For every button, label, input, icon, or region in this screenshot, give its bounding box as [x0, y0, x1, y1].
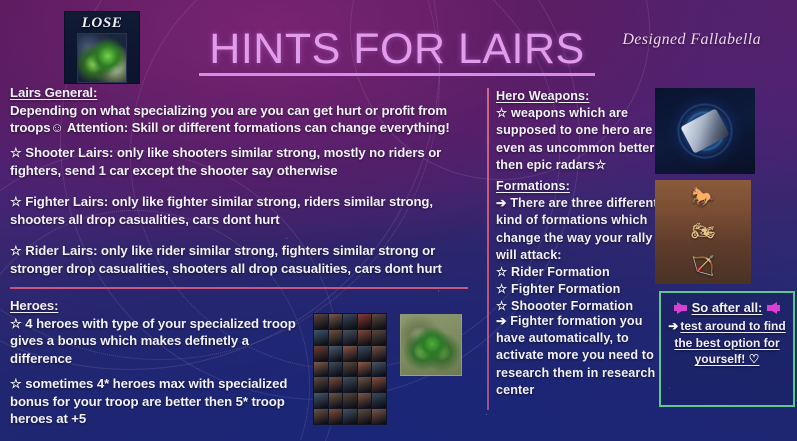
weapon-glyph [680, 108, 729, 153]
conclusion-arrow-icon: ➔ [668, 318, 678, 335]
hero-portrait-cell [372, 409, 386, 424]
hero-weapons-body: ☆ weapons which are supposed to one hero… [496, 106, 654, 172]
hero-portrait-cell [329, 330, 343, 345]
hero-portrait-cell [329, 346, 343, 361]
hero-portrait-cell [372, 377, 386, 392]
hero-portrait-cell [329, 409, 343, 424]
hero-portrait-cell [358, 314, 372, 329]
hero-portrait-cell [358, 346, 372, 361]
hero-portrait-cell [314, 362, 328, 377]
hero-portrait-cell [343, 377, 357, 392]
hero-portrait-cell [329, 377, 343, 392]
hero-portrait-cell [314, 393, 328, 408]
hero-portrait-cell [372, 362, 386, 377]
hero-portrait-cell [358, 393, 372, 408]
formation-item-rider: ☆ Rider Formation [496, 265, 610, 279]
hero-portrait-cell [329, 362, 343, 377]
section-fighter-lairs: ☆ Fighter Lairs: only like fighter simil… [10, 193, 478, 228]
conclusion-body: ➔test around to find the best option for… [661, 318, 793, 368]
left-section-divider [10, 287, 468, 289]
hero-portrait-cell [343, 346, 357, 361]
hero-portrait-cell [314, 330, 328, 345]
hero-portrait-cell [314, 346, 328, 361]
hero-portrait-cell [372, 346, 386, 361]
hero-portrait-cell [372, 393, 386, 408]
hero-portrait-cell [343, 330, 357, 345]
lose-badge-label: LOSE [82, 15, 123, 32]
hero-portrait-cell [358, 409, 372, 424]
hero-portrait-cell [343, 393, 357, 408]
section-shooter-lairs: ☆ Shooter Lairs: only like shooters simi… [10, 144, 478, 179]
hero-portrait-cell [343, 362, 357, 377]
lairs-general-heading: Lairs General: [10, 84, 97, 102]
hero-portrait-grid-image [313, 313, 387, 425]
hero-weapons-heading: Hero Weapons: [496, 88, 589, 105]
formation-icons-image: 🐎 🏍 🏹 [655, 180, 751, 284]
heroes-point-2: ☆ sometimes 4* heroes max with specializ… [10, 376, 287, 426]
heroes-point-1: ☆ 4 heroes with type of your specialized… [10, 316, 296, 366]
hero-portrait-cell [343, 409, 357, 424]
hero-portrait-cell [358, 377, 372, 392]
lose-badge-art [77, 33, 127, 83]
fighter-lairs-text: ☆ Fighter Lairs: only like fighter simil… [10, 194, 433, 227]
formation-bike-icon: 🏍 [691, 222, 715, 241]
hero-portrait-cell [329, 314, 343, 329]
rider-lairs-text: ☆ Rider Lairs: only like rider similar s… [10, 243, 442, 276]
conclusion-title: So after all: [692, 300, 763, 315]
lose-badge: LOSE [64, 11, 140, 84]
section-lairs-general: Lairs General: Depending on what special… [10, 84, 478, 137]
hero-portrait-cell [314, 314, 328, 329]
hero-portrait-cell [358, 330, 372, 345]
section-heroes-point-2: ☆ sometimes 4* heroes max with specializ… [10, 375, 310, 428]
page-title: HINTS FOR LAIRS [197, 26, 597, 72]
hero-portrait-cell [372, 314, 386, 329]
right-arrow-icon [677, 302, 687, 314]
shooter-lairs-text: ☆ Shooter Lairs: only like shooters simi… [10, 145, 441, 178]
formations-heading: Formations: [496, 178, 570, 195]
designer-credit: Designed Fallabella [622, 31, 761, 49]
section-formations: Formations: ➔ There are three different … [496, 178, 672, 316]
hero-portrait-cell [358, 362, 372, 377]
hero-portrait-cell [329, 393, 343, 408]
formation-shooter-icon: 🏹 [691, 257, 715, 276]
conclusion-box: So after all: ➔test around to find the b… [659, 291, 795, 407]
conclusion-body-text: test around to find the best option for … [674, 319, 785, 366]
troop-base-image [400, 314, 462, 376]
hero-portrait-cell [314, 409, 328, 424]
formation-item-shooter: ☆ Shoooter Formation [496, 299, 633, 313]
section-fighter-formation-note: ➔ Fighter formation you have automatical… [496, 313, 672, 399]
left-arrow-icon [767, 302, 777, 314]
title-underline [199, 73, 595, 76]
poster-canvas: LOSE HINTS FOR LAIRS Designed Fallabella… [0, 0, 797, 441]
hero-portrait-cell [343, 314, 357, 329]
section-rider-lairs: ☆ Rider Lairs: only like rider similar s… [10, 242, 478, 277]
fighter-formation-note-text: ➔ Fighter formation you have automatical… [496, 314, 655, 397]
hero-portrait-cell [372, 330, 386, 345]
formation-item-fighter: ☆ Fighter Formation [496, 282, 620, 296]
column-divider [487, 88, 489, 410]
heroes-heading: Heroes: [10, 297, 58, 315]
section-heroes: Heroes: ☆ 4 heroes with type of your spe… [10, 297, 310, 367]
formations-intro: ➔ There are three different kind of form… [496, 196, 658, 262]
conclusion-title-row: So after all: [661, 300, 793, 315]
hero-portrait-cell [314, 377, 328, 392]
lairs-general-body: Depending on what specializing you are y… [10, 103, 450, 136]
section-hero-weapons: Hero Weapons: ☆ weapons which are suppos… [496, 88, 666, 174]
formation-rider-icon: 🐎 [691, 188, 715, 207]
hero-weapon-image [655, 88, 755, 174]
